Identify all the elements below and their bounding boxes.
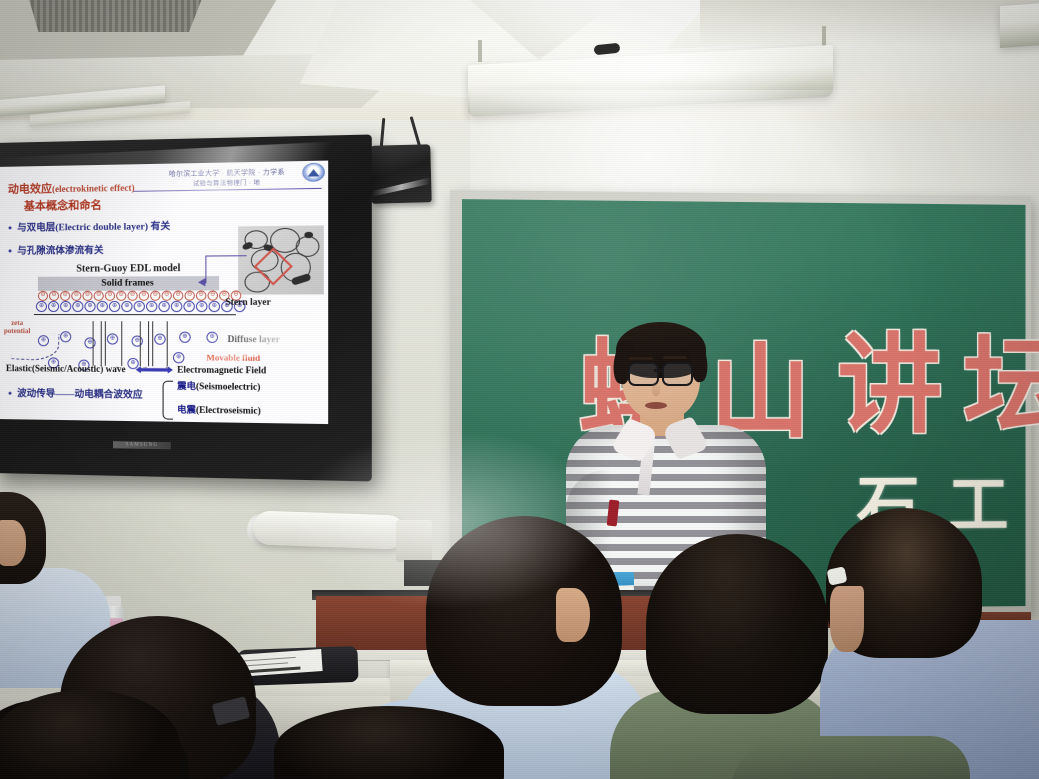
slide-model-caption: Stern-Guoy EDL model <box>76 263 180 275</box>
presentation-slide: 哈尔滨工业大学 · 航天学院 · 力学系 试验与算法物理门 · 地 动电效应(e… <box>0 161 328 424</box>
speaker-mouth <box>645 402 667 409</box>
negative-ion-row: ⊖⊖ ⊖⊖ ⊖⊖ ⊖⊖ ⊖⊖ ⊖⊖ ⊖⊖ ⊖⊖ ⊖⊖ <box>38 290 241 301</box>
slide-header-rule <box>134 188 322 192</box>
ceiling-light-right <box>1000 2 1039 48</box>
shear-plane-line <box>34 314 236 315</box>
stern-layer-ion-row: ⊕⊕ ⊕⊕ ⊕⊕ ⊕⊕ ⊕⊕ ⊕⊕ ⊕⊕ ⊕⊕ ⊕ <box>36 301 246 312</box>
coupling-item-1: 震电(Seismoelectric) <box>177 379 260 393</box>
speaker-eyebrow-left <box>629 357 653 360</box>
slide-bullet-2: 与孔隙流体渗流有关 <box>8 242 104 257</box>
ceiling-vent-grill <box>28 0 203 32</box>
audience-center-right-head <box>646 534 828 714</box>
blackboard-red-char-4: 坛 <box>963 302 1039 454</box>
display-brand-logo: SAMSUNG <box>113 441 171 449</box>
callout-arrow-icon <box>198 278 205 286</box>
stern-layer-label: Stern layer <box>225 297 270 307</box>
slide-title-en: (electrokinetic effect) <box>52 183 135 194</box>
glasses-bridge-icon <box>654 369 663 372</box>
electromagnetic-field-label: Electromagnetic Field <box>177 364 266 375</box>
slide-subtitle: 基本概念和命名 <box>24 196 102 213</box>
photo-scene: 蟒 山 讲 坛 石 工 哈尔滨工业大学 · 航天学院 · 力学系 试验与算法物理… <box>0 0 1039 779</box>
solid-frames-band: Solid frames <box>38 276 219 291</box>
callout-connector <box>205 255 246 283</box>
slide-title-zh: 动电效应 <box>8 183 52 196</box>
audience-right-blue-face <box>830 586 864 652</box>
pore-structure-image <box>238 225 324 294</box>
coupling-brace <box>163 381 173 420</box>
blackboard-red-char-3: 讲 <box>837 297 942 454</box>
slide-header: 哈尔滨工业大学 · 航天学院 · 力学系 试验与算法物理门 · 地 <box>134 165 322 192</box>
elastic-wave-label: Elastic(Seismic/Acoustic) wave <box>6 363 126 374</box>
ceiling-right <box>700 0 1039 46</box>
diffuse-layer-label: Diffuse layer <box>228 334 280 345</box>
lamp-rod-left <box>478 40 482 62</box>
slide-bullet-1: 与双电层(Electric double layer) 有关 <box>8 218 170 234</box>
slide-bullet-3: 波动传导——动电耦合波效应 <box>8 385 143 401</box>
speaker-nose <box>652 382 660 396</box>
coupling-item-2: 电震(Electroseismic) <box>177 402 261 417</box>
speaker-eyebrow-right <box>663 356 687 359</box>
glasses-lens-right-icon <box>662 362 693 386</box>
audience-left-blue-ear <box>0 520 26 566</box>
audience-far-right-shoulders <box>730 736 970 779</box>
movable-fluid-label: Movable fluid <box>206 352 260 363</box>
slide-header-line2: 试验与算法物理门 · 地 <box>134 176 322 188</box>
foreground-light-falloff <box>290 430 610 610</box>
display-screen: 哈尔滨工业大学 · 航天学院 · 力学系 试验与算法物理门 · 地 动电效应(e… <box>0 161 328 424</box>
slide-title: 动电效应(electrokinetic effect) <box>8 179 135 197</box>
